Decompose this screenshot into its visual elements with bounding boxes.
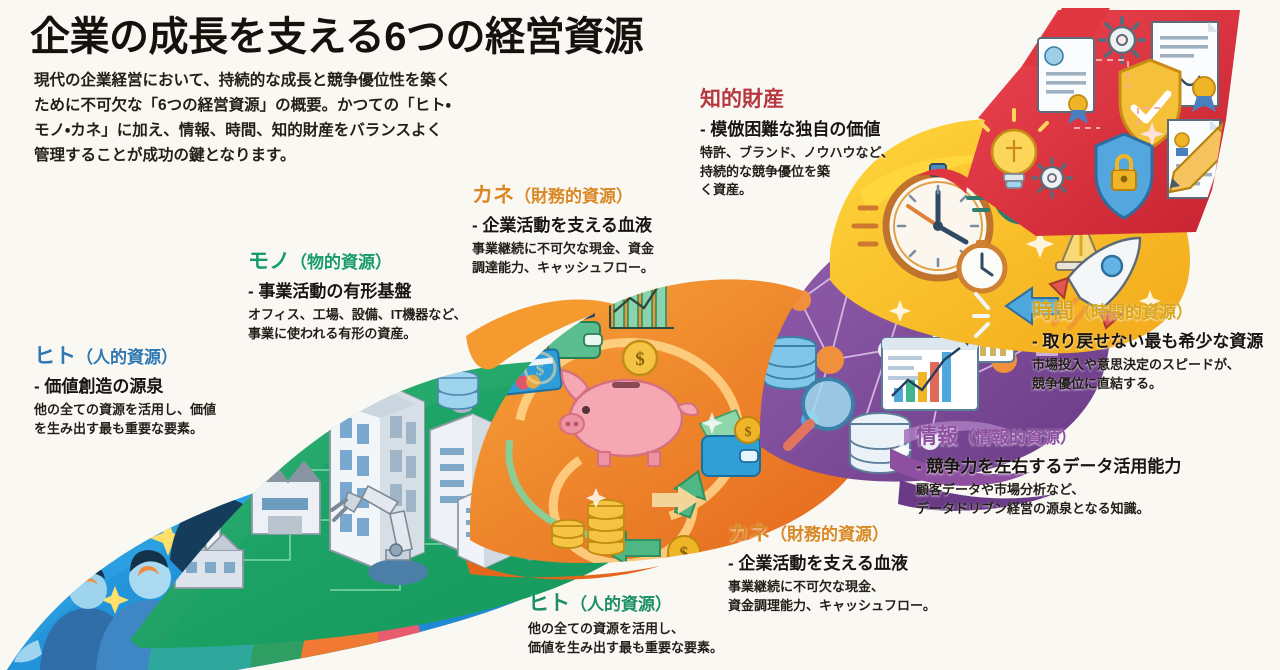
resource-name-joho: 情報（情報的資源） xyxy=(916,425,1181,449)
resource-desc-kane: 事業継続に不可欠な現金、資金調達能力、キャッシュフロー。 xyxy=(472,240,654,277)
resource-name-chiteki-zaisan: 知的財産 xyxy=(700,88,894,112)
resource-tagline-joho: - 競争力を左右するデータ活用能力 xyxy=(916,452,1181,477)
resource-desc-chiteki-zaisan: 特許、ブランド、ノウハウなど、持続的な競争優位を築く資産。 xyxy=(700,144,894,199)
resource-desc-kane-secondary: 事業継続に不可欠な現金、資金調理能力、キャッシュフロー。 xyxy=(728,578,936,615)
resource-card-kane: カネ（財務的資源） - 企業活動を支える血液 事業継続に不可欠な現金、資金調達能… xyxy=(472,184,654,277)
resource-tagline-hito: - 価値創造の源泉 xyxy=(34,372,216,397)
page-title: 企業の成長を支える6つの経営資源 xyxy=(30,4,643,62)
resource-tagline-jikan: - 取り戻せない最も希少な資源 xyxy=(1032,327,1263,352)
resource-tagline-kane-secondary: - 企業活動を支える血液 xyxy=(728,549,936,574)
resource-name-kane-secondary: カネ（財務的資源） xyxy=(728,522,936,546)
resource-desc-hito: 他の全ての資源を活用し、価値を生み出す最も重要な要素。 xyxy=(34,401,216,438)
resource-name-hito: ヒト（人的資源） xyxy=(34,345,216,369)
coin-icon: $ xyxy=(623,341,657,375)
gear-icon xyxy=(1033,159,1071,197)
resource-tagline-chiteki-zaisan: - 模倣困難な独自の価値 xyxy=(700,115,894,140)
resource-desc-joho: 顧客データや市場分析など、データドリブン経営の源泉となる知識。 xyxy=(916,481,1181,518)
svg-text:$: $ xyxy=(745,425,752,440)
resource-name-mono: モノ（物的資源） xyxy=(248,250,467,274)
server-rack-icon xyxy=(438,371,478,409)
svg-text:$: $ xyxy=(536,360,545,379)
resource-name-hito-secondary: ヒト（人的資源） xyxy=(528,592,723,616)
resource-card-jikan: 時間（時間的資源） - 取り戻せない最も希少な資源 市場投入や意思決定のスピード… xyxy=(1032,300,1263,393)
resource-name-kane: カネ（財務的資源） xyxy=(472,184,654,208)
resource-name-jikan: 時間（時間的資源） xyxy=(1032,300,1263,324)
resource-desc-hito-secondary: 他の全ての資源を活用し、価値を生み出す最も重要な要素。 xyxy=(528,620,723,657)
resource-card-mono: モノ（物的資源） - 事業活動の有形基盤 オフィス、工場、設備、IT機器など、事… xyxy=(248,250,467,343)
dashboard-icon xyxy=(882,334,978,410)
intro-paragraph: 現代の企業経営において、持続的な成長と競争優位性を築くために不可欠な「6つの経営… xyxy=(34,68,454,168)
gear-icon xyxy=(1100,18,1144,62)
resource-card-hito: ヒト（人的資源） - 価値創造の源泉 他の全ての資源を活用し、価値を生み出す最も… xyxy=(34,345,216,438)
svg-text:$: $ xyxy=(680,543,689,563)
svg-text:$: $ xyxy=(635,349,645,370)
resource-card-hito-secondary: ヒト（人的資源） 他の全ての資源を活用し、価値を生み出す最も重要な要素。 xyxy=(528,592,723,657)
resource-card-kane-secondary: カネ（財務的資源） - 企業活動を支える血液 事業継続に不可欠な現金、資金調理能… xyxy=(728,522,936,615)
resource-desc-jikan: 市場投入や意思決定のスピードが、競争優位に直結する。 xyxy=(1032,356,1263,393)
certificate-icon xyxy=(1038,38,1094,124)
resource-desc-mono: オフィス、工場、設備、IT機器など、事業に使われる有形の資産。 xyxy=(248,306,467,343)
resource-card-joho: 情報（情報的資源） - 競争力を左右するデータ活用能力 顧客データや市場分析など… xyxy=(916,425,1181,518)
resource-card-chiteki-zaisan: 知的財産 - 模倣困難な独自の価値 特許、ブランド、ノウハウなど、持続的な競争優… xyxy=(700,88,894,200)
resource-tagline-kane: - 企業活動を支える血液 xyxy=(472,211,654,236)
resource-tagline-mono: - 事業活動の有形基盤 xyxy=(248,277,467,302)
infographic-canvas: $ $ $ xyxy=(0,0,1280,670)
